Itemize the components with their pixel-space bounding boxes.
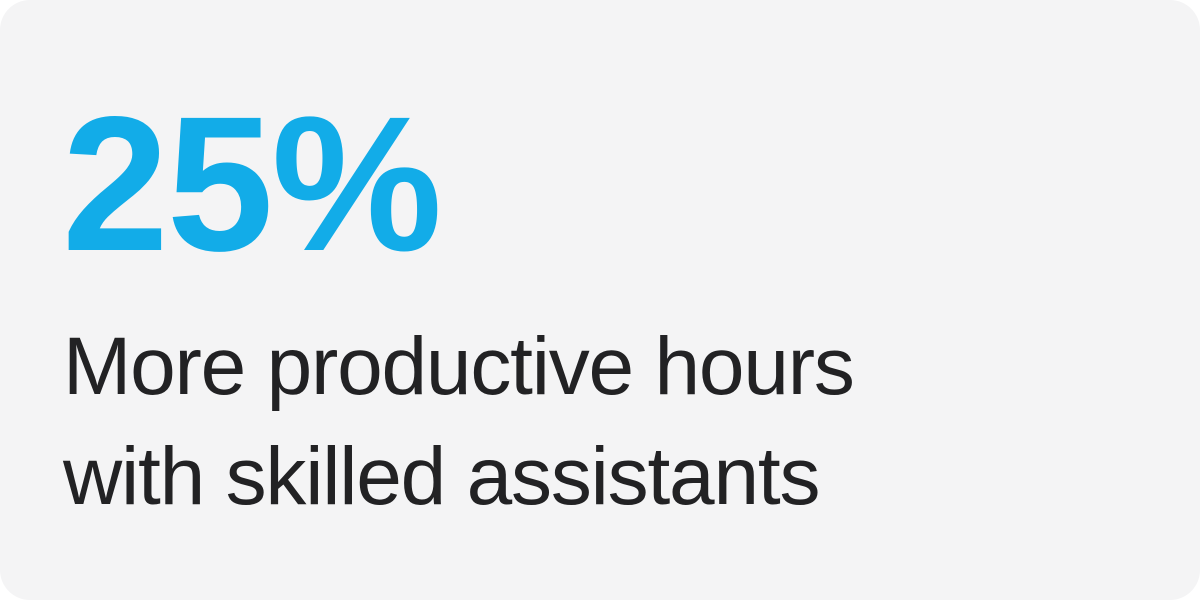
stat-description: More productive hours with skilled assis…: [63, 312, 1063, 532]
stat-value: 25%: [62, 88, 440, 280]
statistic-card: 25% More productive hours with skilled a…: [0, 0, 1200, 600]
stat-description-line-2: with skilled assistants: [63, 422, 1063, 532]
stat-description-line-1: More productive hours: [63, 312, 1063, 422]
